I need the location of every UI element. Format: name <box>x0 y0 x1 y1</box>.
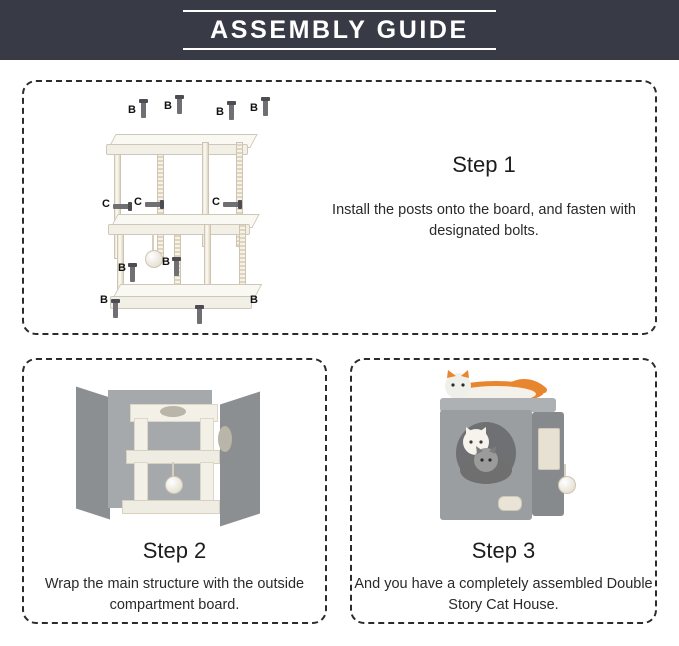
screw-icon <box>130 266 135 282</box>
step-2-illustration <box>42 378 310 533</box>
step-3-panel: Step 3 And you have a completely assembl… <box>350 358 657 624</box>
post-lower-midright <box>204 224 211 292</box>
page-title: ASSEMBLY GUIDE <box>210 16 469 45</box>
screw-icon <box>113 204 129 209</box>
screw-icon <box>263 100 268 116</box>
step-1-panel: B B B B C C C C <box>22 80 657 335</box>
bolt-label-b: B <box>118 262 126 274</box>
bolt-label-c: C <box>134 196 142 208</box>
rope-post-lower-right <box>239 224 246 292</box>
side-entry-hole <box>218 426 232 452</box>
top-board <box>106 144 248 155</box>
bottom-board <box>110 296 252 309</box>
step-1-text-block: Step 1 Install the posts onto the board,… <box>319 152 649 242</box>
header-rule-bottom <box>183 48 496 50</box>
bolt-label-b: B <box>128 104 136 116</box>
step-3-illustration <box>412 368 602 536</box>
ball-toy-icon <box>145 250 163 268</box>
assembly-guide-page: ASSEMBLY GUIDE B B B B C C <box>0 0 679 646</box>
screw-icon <box>141 102 146 118</box>
brand-label-tag <box>498 496 522 511</box>
screw-icon <box>223 202 239 207</box>
screw-icon <box>145 202 161 207</box>
side-scratch-pad <box>538 428 560 470</box>
structure-post-lower-right <box>200 462 214 504</box>
screw-icon <box>197 308 202 324</box>
structure-bottom-board <box>122 500 220 514</box>
header-rule-top <box>183 10 496 12</box>
wrap-panel-left <box>76 386 110 519</box>
step-2-title: Step 2 <box>24 538 325 564</box>
screw-icon <box>113 302 118 318</box>
ball-toy-icon <box>165 476 183 494</box>
structure-post-left <box>134 418 148 454</box>
cats-inside-icon <box>456 426 516 484</box>
step-2-panel: Step 2 Wrap the main structure with the … <box>22 358 327 624</box>
bolt-label-c: C <box>102 198 110 210</box>
screw-icon <box>174 260 179 276</box>
bolt-label-b: B <box>216 106 224 118</box>
step-3-description: And you have a completely assembled Doub… <box>352 574 655 616</box>
step-2-text-block: Step 2 Wrap the main structure with the … <box>24 538 325 616</box>
screw-icon <box>177 98 182 114</box>
step-3-text-block: Step 3 And you have a completely assembl… <box>352 538 655 616</box>
step-1-illustration: B B B B C C C C <box>84 94 294 326</box>
step-1-title: Step 1 <box>319 152 649 178</box>
bolt-label-b: B <box>100 294 108 306</box>
cats-inside <box>456 426 516 484</box>
bolt-label-c: C <box>212 196 220 208</box>
page-header: ASSEMBLY GUIDE <box>0 0 679 60</box>
structure-post-lower-left <box>134 462 148 504</box>
bolt-label-b: B <box>164 100 172 112</box>
step-3-title: Step 3 <box>352 538 655 564</box>
bolt-label-b: B <box>250 102 258 114</box>
structure-post-right <box>200 418 214 454</box>
top-board-hole <box>160 406 186 417</box>
screw-icon <box>229 104 234 120</box>
ball-toy-icon <box>558 476 576 494</box>
bolt-label-b: B <box>162 256 170 268</box>
step-2-description: Wrap the main structure with the outside… <box>24 574 325 616</box>
step-1-description: Install the posts onto the board, and fa… <box>319 200 649 242</box>
bolt-label-b: B <box>250 294 258 306</box>
wrap-panel-right <box>220 392 260 527</box>
